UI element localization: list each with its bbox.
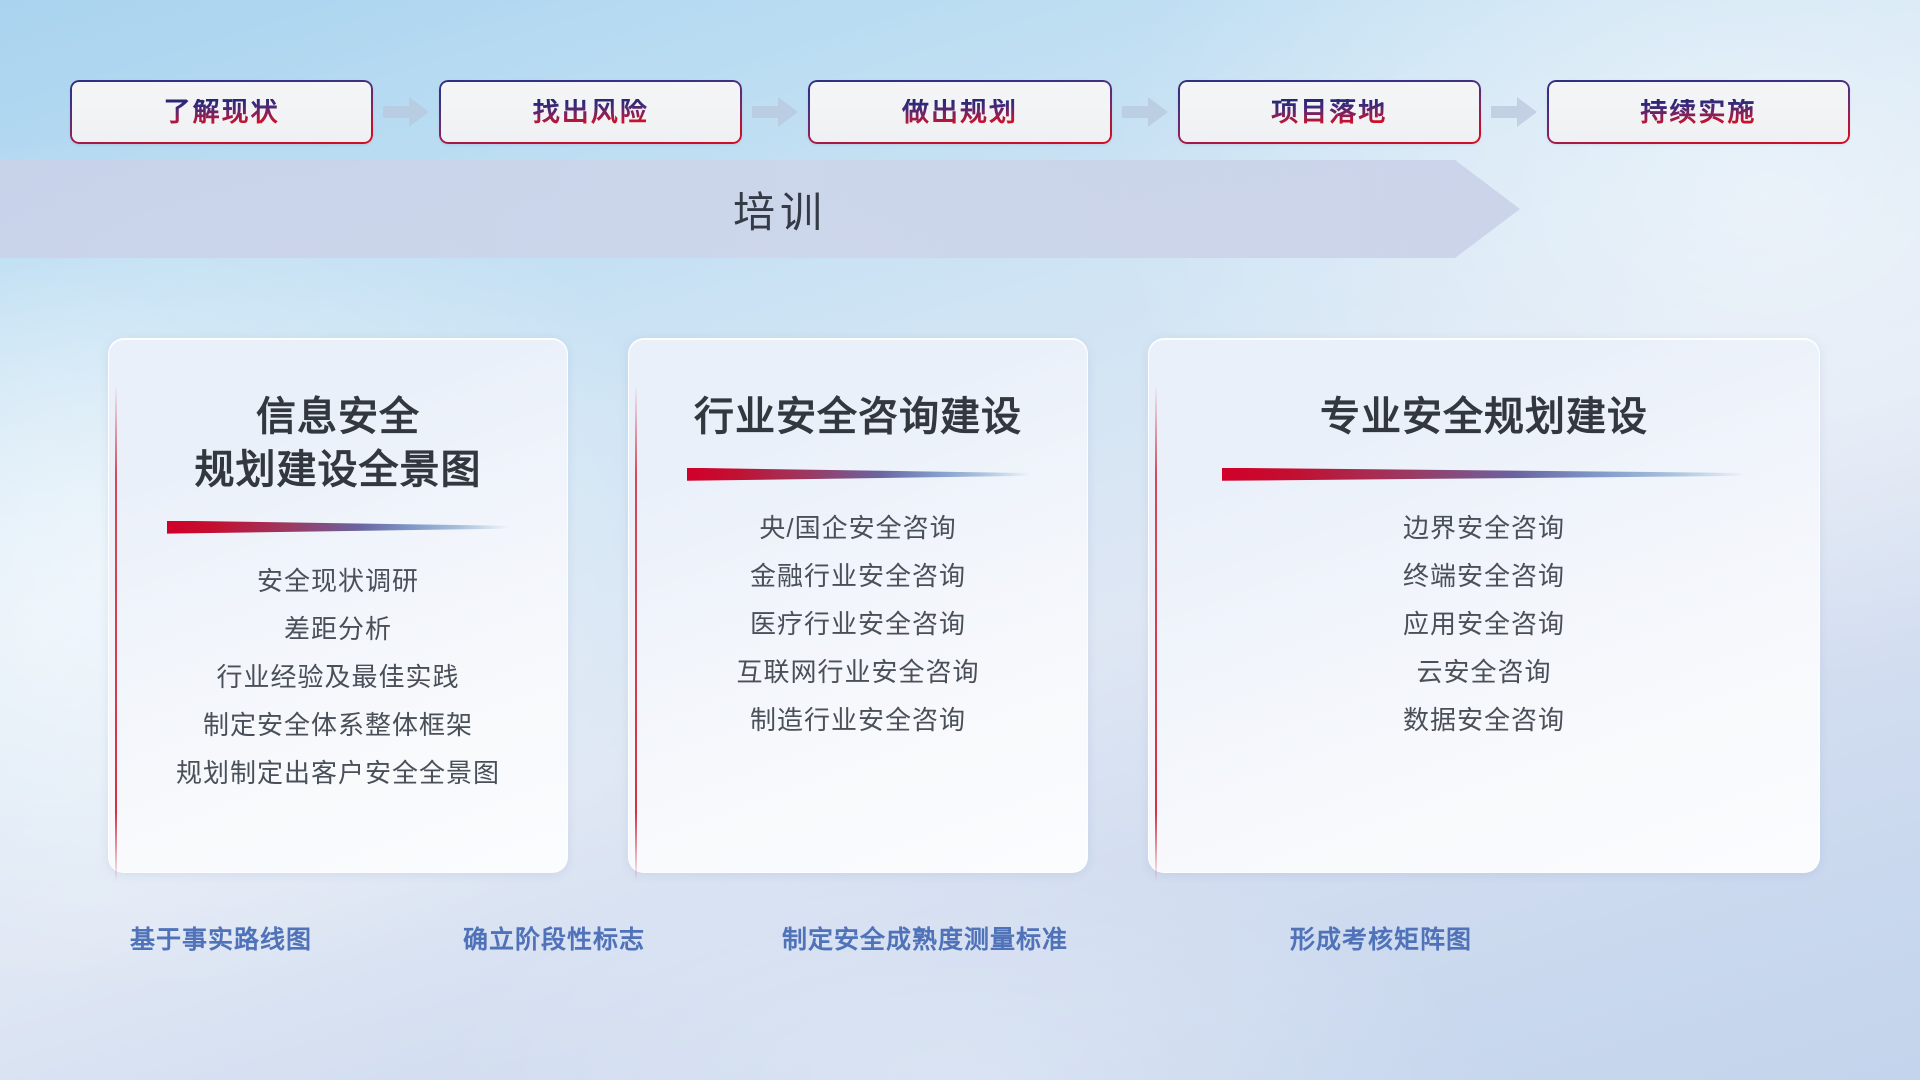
step-label-1: 了解现状 bbox=[164, 99, 280, 126]
process-steps: 了解现状 找出风险 做出规划 项目落地 bbox=[70, 80, 1850, 144]
card-list: 边界安全咨询 终端安全咨询 应用安全咨询 云安全咨询 数据安全咨询 bbox=[1403, 504, 1565, 744]
card-title: 专业安全规划建设 bbox=[1320, 391, 1648, 444]
slide-canvas: 了解现状 找出风险 做出规划 项目落地 bbox=[0, 0, 1920, 1080]
list-item: 应用安全咨询 bbox=[1403, 600, 1565, 648]
caption-assessment-matrix: 形成考核矩阵图 bbox=[1290, 920, 1472, 960]
card-title: 信息安全 规划建设全景图 bbox=[195, 391, 482, 497]
gradient-divider-icon bbox=[167, 521, 509, 539]
list-item: 数据安全咨询 bbox=[1403, 696, 1565, 744]
card-professional-security-planning[interactable]: 专业安全规划建设 边界安全咨询 终端安全咨询 应用安全咨询 云安全咨询 数据安全… bbox=[1148, 338, 1820, 873]
card-industry-security-consulting[interactable]: 行业安全咨询建设 央/国企安全咨询 金融行业安全咨询 医疗行业安全咨询 互联网行… bbox=[628, 338, 1088, 873]
gradient-divider-icon bbox=[1222, 468, 1747, 486]
step-pill-1[interactable]: 了解现状 bbox=[70, 80, 373, 144]
arrow-right-icon bbox=[1487, 95, 1541, 129]
card-title: 行业安全咨询建设 bbox=[694, 391, 1022, 444]
step-label-4: 项目落地 bbox=[1271, 99, 1387, 126]
step-label-3: 做出规划 bbox=[902, 99, 1018, 126]
caption-milestones: 确立阶段性标志 bbox=[463, 920, 645, 960]
bottom-captions: 基于事实路线图 确立阶段性标志 制定安全成熟度测量标准 形成考核矩阵图 bbox=[0, 920, 1920, 970]
arrow-right-icon bbox=[748, 95, 802, 129]
list-item: 互联网行业安全咨询 bbox=[736, 648, 979, 696]
list-item: 行业经验及最佳实践 bbox=[176, 653, 500, 701]
step-pill-2[interactable]: 找出风险 bbox=[439, 80, 742, 144]
list-item: 安全现状调研 bbox=[176, 557, 500, 605]
list-item: 规划制定出客户安全全景图 bbox=[176, 749, 500, 797]
training-banner: 培训 bbox=[0, 160, 1920, 258]
gradient-divider-icon bbox=[687, 468, 1029, 486]
step-pill-3[interactable]: 做出规划 bbox=[808, 80, 1111, 144]
caption-maturity-standard: 制定安全成熟度测量标准 bbox=[782, 920, 1068, 960]
list-item: 金融行业安全咨询 bbox=[736, 552, 979, 600]
step-label-2: 找出风险 bbox=[533, 99, 649, 126]
step-pill-5[interactable]: 持续实施 bbox=[1547, 80, 1850, 144]
list-item: 云安全咨询 bbox=[1403, 648, 1565, 696]
arrow-right-icon bbox=[1118, 95, 1172, 129]
list-item: 制定安全体系整体框架 bbox=[176, 701, 500, 749]
list-item: 医疗行业安全咨询 bbox=[736, 600, 979, 648]
card-row: 信息安全 规划建设全景图 安全现状调研 差距分析 行业经验及最佳实践 制定安全体… bbox=[108, 338, 1820, 873]
list-item: 央/国企安全咨询 bbox=[736, 504, 979, 552]
card-information-security-blueprint[interactable]: 信息安全 规划建设全景图 安全现状调研 差距分析 行业经验及最佳实践 制定安全体… bbox=[108, 338, 568, 873]
banner-title: 培训 bbox=[0, 160, 1560, 258]
list-item: 制造行业安全咨询 bbox=[736, 696, 979, 744]
list-item: 终端安全咨询 bbox=[1403, 552, 1565, 600]
card-list: 央/国企安全咨询 金融行业安全咨询 医疗行业安全咨询 互联网行业安全咨询 制造行… bbox=[736, 504, 979, 744]
step-pill-4[interactable]: 项目落地 bbox=[1178, 80, 1481, 144]
card-list: 安全现状调研 差距分析 行业经验及最佳实践 制定安全体系整体框架 规划制定出客户… bbox=[176, 557, 500, 797]
arrow-right-icon bbox=[379, 95, 433, 129]
list-item: 边界安全咨询 bbox=[1403, 504, 1565, 552]
caption-roadmap: 基于事实路线图 bbox=[130, 920, 312, 960]
step-label-5: 持续实施 bbox=[1640, 99, 1756, 126]
list-item: 差距分析 bbox=[176, 605, 500, 653]
